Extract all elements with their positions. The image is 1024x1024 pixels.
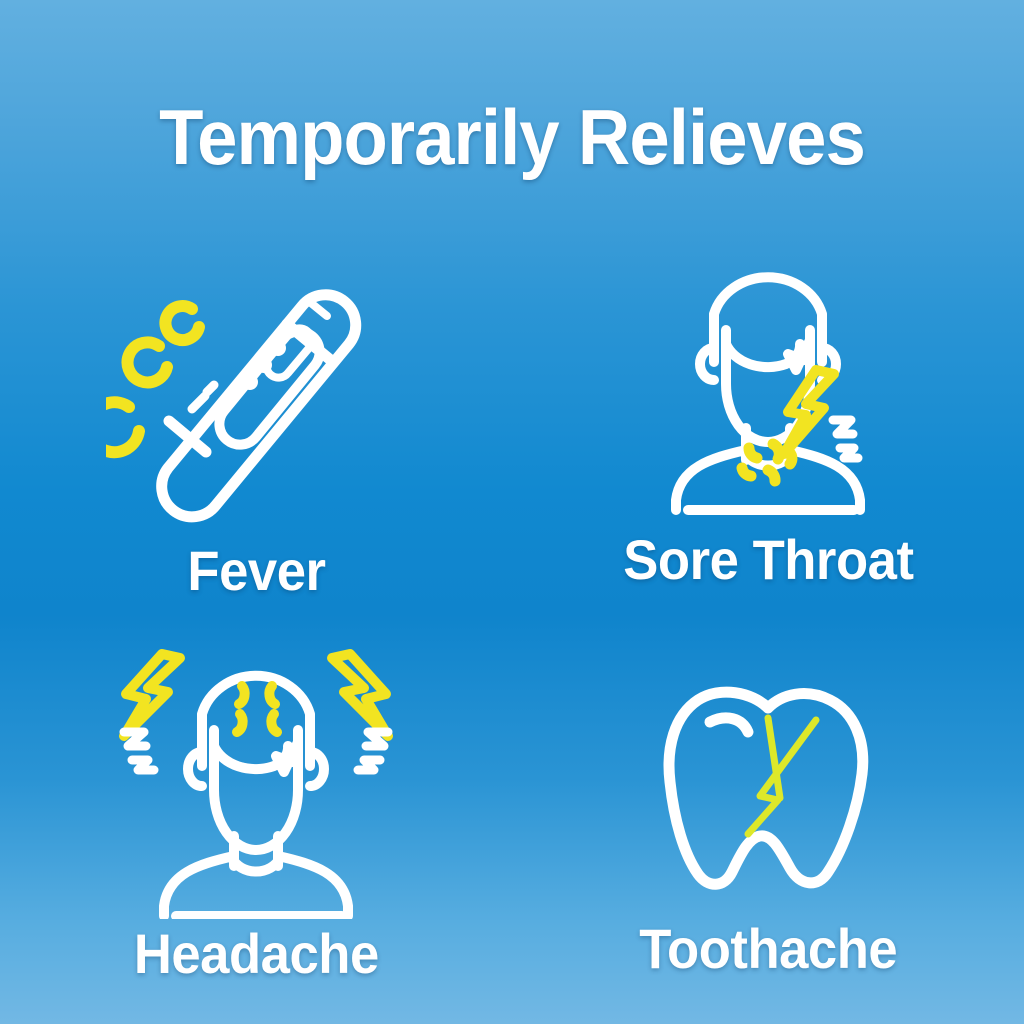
pain-zigzag-group: [833, 420, 858, 458]
symptom-card-toothache[interactable]: Toothache: [512, 630, 1024, 1010]
poster-canvas: Temporarily Relieves: [0, 0, 1024, 1024]
thermometer-icon: [106, 276, 406, 526]
symptom-label-toothache: Toothache: [639, 920, 897, 978]
symptom-card-fever[interactable]: Fever: [0, 250, 512, 630]
pain-bolt-right-icon: [332, 654, 388, 736]
symptom-label-sore-throat: Sore Throat: [623, 531, 913, 589]
pain-bolt-icon: [784, 370, 834, 454]
forehead-pain-marks: [237, 686, 277, 732]
symptom-card-headache[interactable]: Headache: [0, 630, 512, 1010]
symptom-card-sore-throat[interactable]: Sore Throat: [512, 250, 1024, 630]
pain-bolt-left-icon: [124, 654, 180, 736]
symptom-grid: Fever: [0, 250, 1024, 1010]
toothache-icon: [648, 678, 888, 898]
tooth-crack-bolt-icon: [748, 718, 816, 834]
symptom-label-fever: Fever: [187, 542, 325, 600]
headache-icon: [96, 644, 416, 919]
sore-throat-icon: [618, 252, 918, 517]
symptom-label-headache: Headache: [134, 925, 379, 983]
page-title: Temporarily Relieves: [36, 96, 988, 178]
